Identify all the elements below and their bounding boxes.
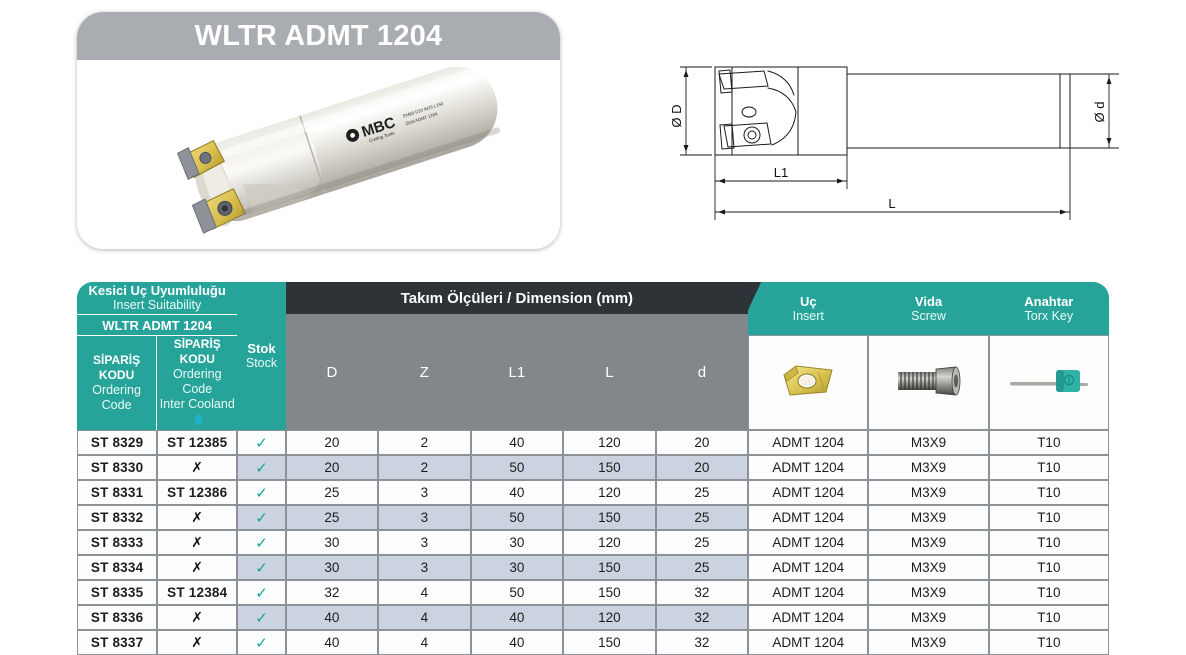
cell-ordering-code-inter[interactable]: ✗ [157, 505, 237, 530]
cell-dim-L: 150 [563, 455, 656, 480]
in-stock-check-icon: ✓ [255, 485, 268, 502]
cell-stock: ✓ [237, 480, 285, 505]
cell-dim-L1: 40 [471, 630, 564, 655]
cell-dim-L1: 40 [471, 430, 564, 455]
cell-dim-d: 20 [656, 455, 749, 480]
cell-dim-L: 150 [563, 505, 656, 530]
table-row: ST 8336✗✓4044012032ADMT 1204M3X9T10 [77, 605, 1109, 630]
cell-dim-d: 25 [656, 480, 749, 505]
header-insert-tr: Uç [750, 294, 866, 309]
cell-ordering-code-inter[interactable]: ST 12386 [157, 480, 237, 505]
cell-dim-D: 30 [286, 530, 379, 555]
header-stock: Stok Stock [237, 282, 285, 430]
cell-dim-Z: 3 [378, 530, 471, 555]
in-stock-check-icon: ✓ [255, 585, 268, 602]
not-available-cross-icon: ✗ [191, 534, 203, 550]
cell-dim-L1: 50 [471, 455, 564, 480]
header-insert-icon-cell [748, 335, 868, 430]
cell-dim-L: 120 [563, 480, 656, 505]
cell-stock: ✓ [237, 505, 285, 530]
cell-dim-L: 150 [563, 630, 656, 655]
header-ordering-code-tr: SİPARİŞ KODU [79, 353, 154, 383]
in-stock-check-icon: ✓ [255, 460, 268, 477]
table-row: ST 8337✗✓4044015032ADMT 1204M3X9T10 [77, 630, 1109, 655]
cell-dim-D: 20 [286, 430, 379, 455]
header-torx-key-tr: Anahtar [991, 294, 1107, 309]
cell-stock: ✓ [237, 555, 285, 580]
cell-insert: ADMT 1204 [748, 505, 868, 530]
specification-table: Kesici Uç Uyumluluğu Insert Suitability … [77, 282, 1109, 655]
header-dim-L-text: L [605, 364, 613, 381]
table-row: ST 8331ST 12386✓2534012025ADMT 1204M3X9T… [77, 480, 1109, 505]
cell-screw: M3X9 [868, 430, 988, 455]
cell-insert: ADMT 1204 [748, 480, 868, 505]
header-torx-key-icon-cell [989, 335, 1109, 430]
cell-dim-L1: 40 [471, 605, 564, 630]
cell-ordering-code[interactable]: ST 8332 [77, 505, 157, 530]
cell-dim-Z: 4 [378, 630, 471, 655]
header-dim-D-text: D [326, 364, 337, 381]
cell-dim-L1: 40 [471, 480, 564, 505]
header-torx-key-en: Torx Key [991, 309, 1107, 324]
cell-torx-key: T10 [989, 480, 1109, 505]
header-screw-en: Screw [870, 309, 986, 324]
in-stock-check-icon: ✓ [255, 510, 268, 527]
header-ordering-code-inter: SİPARİŞ KODU Ordering Code Inter Cooland [157, 335, 237, 430]
cell-torx-key: T10 [989, 455, 1109, 480]
in-stock-check-icon: ✓ [255, 635, 268, 652]
coolant-droplet-icon [194, 413, 203, 429]
cell-dim-Z: 2 [378, 430, 471, 455]
header-screw: Vida Screw [868, 282, 988, 335]
header-ordering-code: SİPARİŞ KODU Ordering Code [77, 335, 157, 430]
cell-ordering-code[interactable]: ST 8329 [77, 430, 157, 455]
cell-screw: M3X9 [868, 630, 988, 655]
top-area: WLTR ADMT 1204 [0, 0, 1186, 272]
cell-dim-D: 30 [286, 555, 379, 580]
technical-drawing: Ø D Ø d L1 [672, 40, 1132, 240]
cell-dim-L: 150 [563, 580, 656, 605]
header-insert-suitability: Kesici Uç Uyumluluğu Insert Suitability [77, 282, 237, 314]
header-dim-Z: Z [378, 314, 471, 430]
cell-dim-D: 40 [286, 605, 379, 630]
header-dim-Z-text: Z [420, 364, 429, 381]
cell-ordering-code[interactable]: ST 8331 [77, 480, 157, 505]
cell-stock: ✓ [237, 605, 285, 630]
header-dim-L: L [563, 314, 656, 430]
header-insert-en: Insert [750, 309, 866, 324]
cell-dim-Z: 4 [378, 580, 471, 605]
cell-dim-L: 150 [563, 555, 656, 580]
in-stock-check-icon: ✓ [255, 560, 268, 577]
cell-dim-Z: 2 [378, 455, 471, 480]
product-photo-card: WLTR ADMT 1204 [77, 12, 560, 249]
header-insert-model: WLTR ADMT 1204 [77, 314, 237, 335]
cell-screw: M3X9 [868, 580, 988, 605]
cell-dim-D: 40 [286, 630, 379, 655]
cell-stock: ✓ [237, 530, 285, 555]
cell-stock: ✓ [237, 630, 285, 655]
dim-label-small-diameter: Ø d [1092, 102, 1107, 123]
torx-key-icon [1006, 385, 1092, 400]
cell-torx-key: T10 [989, 505, 1109, 530]
cell-ordering-code-inter[interactable]: ✗ [157, 530, 237, 555]
cell-ordering-code[interactable]: ST 8333 [77, 530, 157, 555]
header-insert-suitability-en: Insert Suitability [79, 298, 235, 313]
cell-stock: ✓ [237, 455, 285, 480]
header-screw-tr: Vida [870, 294, 986, 309]
dim-label-l1: L1 [774, 165, 788, 180]
header-dim-d-text: d [698, 364, 706, 381]
header-torx-key: Anahtar Torx Key [989, 282, 1109, 335]
cell-insert: ADMT 1204 [748, 530, 868, 555]
table-row: ST 8332✗✓2535015025ADMT 1204M3X9T10 [77, 505, 1109, 530]
header-inter-coolant-label: Inter Cooland [160, 397, 235, 411]
cell-torx-key: T10 [989, 530, 1109, 555]
cell-insert: ADMT 1204 [748, 455, 868, 480]
cell-dim-L1: 50 [471, 580, 564, 605]
cell-torx-key: T10 [989, 580, 1109, 605]
cell-screw: M3X9 [868, 530, 988, 555]
not-available-cross-icon: ✗ [191, 609, 203, 625]
header-insert-model-text: WLTR ADMT 1204 [78, 318, 236, 333]
table-body: ST 8329ST 12385✓2024012020ADMT 1204M3X9T… [77, 430, 1109, 655]
cell-ordering-code[interactable]: ST 8336 [77, 605, 157, 630]
cell-dim-d: 32 [656, 580, 749, 605]
cell-dim-D: 25 [286, 505, 379, 530]
cell-dim-L1: 30 [471, 555, 564, 580]
cell-ordering-code[interactable]: ST 8330 [77, 455, 157, 480]
header-ordering-code-inter-en: Ordering Code [159, 367, 235, 397]
cell-ordering-code-inter[interactable]: ST 12384 [157, 580, 237, 605]
cell-ordering-code-inter[interactable]: ST 12385 [157, 430, 237, 455]
cell-dim-L: 120 [563, 530, 656, 555]
table-row: ST 8333✗✓3033012025ADMT 1204M3X9T10 [77, 530, 1109, 555]
table-row: ST 8330✗✓2025015020ADMT 1204M3X9T10 [77, 455, 1109, 480]
cell-dim-d: 25 [656, 530, 749, 555]
cell-dim-D: 25 [286, 480, 379, 505]
header-dim-d: d [656, 314, 749, 430]
cell-ordering-code-inter[interactable]: ✗ [157, 455, 237, 480]
cell-dim-D: 32 [286, 580, 379, 605]
page-title: WLTR ADMT 1204 [195, 20, 443, 53]
cell-dim-Z: 3 [378, 505, 471, 530]
cell-dim-d: 25 [656, 505, 749, 530]
header-dim-L1-text: L1 [509, 364, 526, 381]
header-insert-suitability-tr: Kesici Uç Uyumluluğu [79, 283, 235, 298]
torx-screw-icon [894, 385, 964, 400]
cell-dim-Z: 3 [378, 555, 471, 580]
header-dimension-title: Takım Ölçüleri / Dimension (mm) [286, 282, 749, 314]
cell-dim-L: 120 [563, 605, 656, 630]
cell-ordering-code-inter[interactable]: ✗ [157, 555, 237, 580]
header-ordering-code-inter-tr: SİPARİŞ KODU [159, 337, 235, 367]
cell-insert: ADMT 1204 [748, 580, 868, 605]
table-row: ST 8334✗✓3033015025ADMT 1204M3X9T10 [77, 555, 1109, 580]
cell-dim-d: 25 [656, 555, 749, 580]
cell-ordering-code[interactable]: ST 8337 [77, 630, 157, 655]
cell-dim-L1: 50 [471, 505, 564, 530]
product-title-bar: WLTR ADMT 1204 [77, 12, 560, 60]
dim-label-l: L [888, 196, 895, 211]
header-stock-en: Stock [238, 356, 284, 371]
cell-screw: M3X9 [868, 605, 988, 630]
cell-stock: ✓ [237, 580, 285, 605]
header-stock-tr: Stok [238, 341, 284, 356]
cell-screw: M3X9 [868, 480, 988, 505]
header-ordering-code-en: Ordering Code [79, 383, 154, 413]
table-row: ST 8335ST 12384✓3245015032ADMT 1204M3X9T… [77, 580, 1109, 605]
header-dim-D: D [286, 314, 379, 430]
cell-ordering-code[interactable]: ST 8335 [77, 580, 157, 605]
header-screw-icon-cell [868, 335, 988, 430]
header-insert: Uç Insert [748, 282, 868, 335]
cell-dim-L: 120 [563, 430, 656, 455]
cell-insert: ADMT 1204 [748, 430, 868, 455]
cell-insert: ADMT 1204 [748, 605, 868, 630]
cell-dim-d: 32 [656, 630, 749, 655]
cell-dim-Z: 3 [378, 480, 471, 505]
not-available-cross-icon: ✗ [191, 509, 203, 525]
cell-torx-key: T10 [989, 630, 1109, 655]
cell-dim-d: 20 [656, 430, 749, 455]
cell-insert: ADMT 1204 [748, 630, 868, 655]
cell-dim-L1: 30 [471, 530, 564, 555]
cell-screw: M3X9 [868, 505, 988, 530]
cell-torx-key: T10 [989, 430, 1109, 455]
in-stock-check-icon: ✓ [255, 610, 268, 627]
header-dim-L1: L1 [471, 314, 564, 430]
cell-ordering-code-inter[interactable]: ✗ [157, 605, 237, 630]
cell-insert: ADMT 1204 [748, 555, 868, 580]
cell-dim-d: 32 [656, 605, 749, 630]
carbide-insert-icon [780, 386, 836, 401]
cell-torx-key: T10 [989, 555, 1109, 580]
cell-dim-D: 20 [286, 455, 379, 480]
cell-dim-Z: 4 [378, 605, 471, 630]
header-ordering-code-inter-sub: Inter Cooland [159, 397, 235, 429]
not-available-cross-icon: ✗ [191, 459, 203, 475]
not-available-cross-icon: ✗ [191, 559, 203, 575]
cell-ordering-code-inter[interactable]: ✗ [157, 630, 237, 655]
product-photo: MBC Cutting Tools EM90 D20 W25 L150 ZGS … [77, 60, 560, 249]
cell-screw: M3X9 [868, 555, 988, 580]
cell-screw: M3X9 [868, 455, 988, 480]
not-available-cross-icon: ✗ [191, 634, 203, 650]
cell-ordering-code[interactable]: ST 8334 [77, 555, 157, 580]
cell-stock: ✓ [237, 430, 285, 455]
header-dimension-title-text: Takım Ölçüleri / Dimension (mm) [401, 290, 633, 307]
cell-torx-key: T10 [989, 605, 1109, 630]
in-stock-check-icon: ✓ [255, 535, 268, 552]
in-stock-check-icon: ✓ [255, 435, 268, 452]
dim-label-big-diameter: Ø D [672, 104, 684, 127]
table-row: ST 8329ST 12385✓2024012020ADMT 1204M3X9T… [77, 430, 1109, 455]
